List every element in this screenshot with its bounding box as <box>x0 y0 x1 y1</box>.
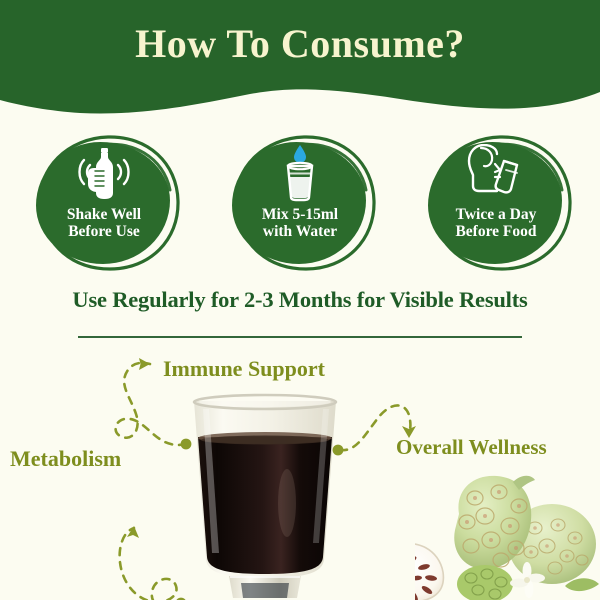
arrowhead-immune <box>139 358 150 370</box>
arrow-path-metabolism <box>120 528 180 600</box>
badge-mix-with-water[interactable]: Mix 5-15ml with Water <box>210 128 390 276</box>
badge-label-line1: Shake Well <box>14 206 194 223</box>
badge-label-line1: Twice a Day <box>406 206 586 223</box>
page-title: How To Consume? <box>0 20 600 67</box>
arrow-dot-immune <box>181 439 192 450</box>
badge-label: Mix 5-15ml with Water <box>210 206 390 240</box>
person-drinking-icon <box>406 144 586 207</box>
badge-label-line2: Before Food <box>406 223 586 240</box>
arrow-dot-overall <box>333 445 344 456</box>
header-banner: How To Consume? <box>0 0 600 120</box>
section-divider <box>78 336 522 338</box>
badge-shake-well[interactable]: Shake Well Before Use <box>14 128 194 276</box>
benefit-label-overall-wellness: Overall Wellness <box>396 435 547 460</box>
noni-fruit-cluster <box>415 468 600 600</box>
noni-fruit-bud <box>457 565 513 600</box>
glass-with-water-droplet-icon <box>210 144 390 207</box>
badge-label: Shake Well Before Use <box>14 206 194 240</box>
water-droplet-icon <box>294 145 306 163</box>
badge-label-line2: Before Use <box>14 223 194 240</box>
shaking-bottle-icon <box>14 144 194 207</box>
benefit-label-metabolism: Metabolism <box>10 446 121 472</box>
headline-text: Use Regularly for 2-3 Months for Visible… <box>0 287 600 313</box>
instruction-badges: Shake Well Before Use Mix 5- <box>0 128 600 278</box>
badge-label-line1: Mix 5-15ml <box>210 206 390 223</box>
badge-label: Twice a Day Before Food <box>406 206 586 240</box>
badge-twice-a-day[interactable]: Twice a Day Before Food <box>406 128 586 276</box>
poster-canvas: How To Consume? <box>0 0 600 600</box>
arrowhead-metabolism <box>127 526 139 538</box>
badge-label-line2: with Water <box>210 223 390 240</box>
benefit-label-immune-support: Immune Support <box>163 356 325 382</box>
